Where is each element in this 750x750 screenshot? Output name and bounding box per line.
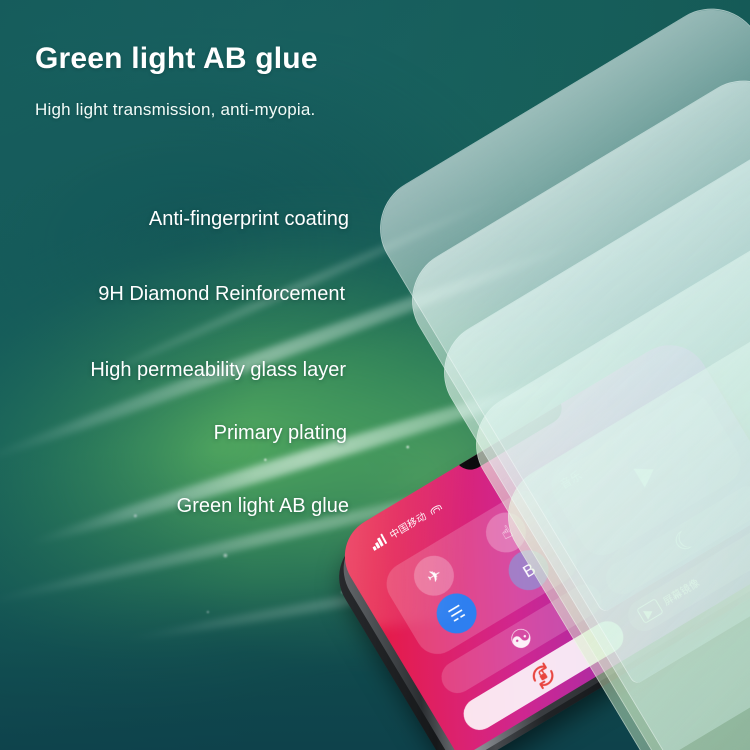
layer-label-9h-diamond-reinforcement: 9H Diamond Reinforcement [98,283,345,306]
layer-label-high-permeability-glass-layer: High permeability glass layer [90,359,346,382]
layer-label-green-light-ab-glue: Green light AB glue [177,495,349,518]
layer-label-anti-fingerprint-coating: Anti-fingerprint coating [149,208,349,231]
rotation-lock-icon[interactable] [523,655,564,696]
layer-label-primary-plating: Primary plating [214,422,347,445]
airdrop-icon[interactable]: ☯ [504,622,537,656]
product-feature-image: 中国移动 ✈ ☝ ☴ B 音乐 ☯ ☾ [0,0,750,750]
page-subtitle: High light transmission, anti-myopia. [35,100,315,120]
page-title: Green light AB glue [35,42,318,76]
